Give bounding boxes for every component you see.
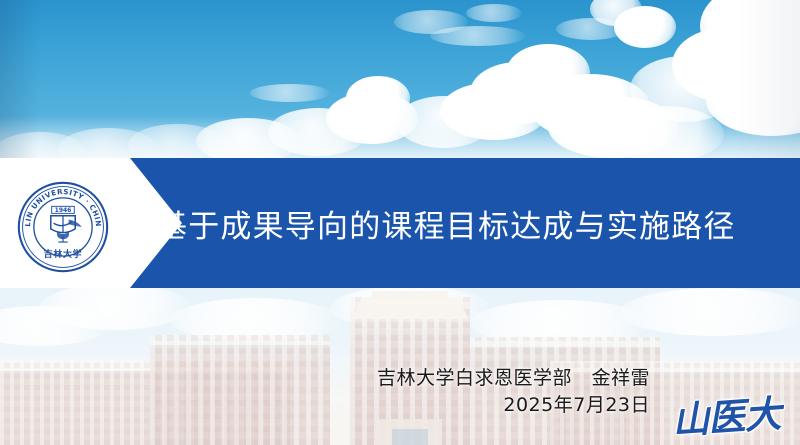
presenter-info: 吉林大学白求恩医学部 金祥雷 2025年7月23日 [377,366,650,418]
presentation-date: 2025年7月23日 [377,393,650,417]
slide-title: 基于成果导向的课程目标达成与实施路径 [156,158,796,288]
presentation-title-slide: JILIN UNIVERSITY · CHINA 1946 吉林大学 基于成果导… [0,0,800,445]
sky-background-image [0,0,800,172]
shanyida-calligraphy-logo: 山医大 [660,384,791,445]
sky-vignette [0,0,800,172]
jilin-university-seal-logo: JILIN UNIVERSITY · CHINA 1946 吉林大学 [16,180,110,274]
svg-text:吉林大学: 吉林大学 [44,248,83,260]
svg-text:1946: 1946 [55,207,72,214]
affiliation-and-presenter: 吉林大学白求恩医学部 金祥雷 [377,366,650,390]
